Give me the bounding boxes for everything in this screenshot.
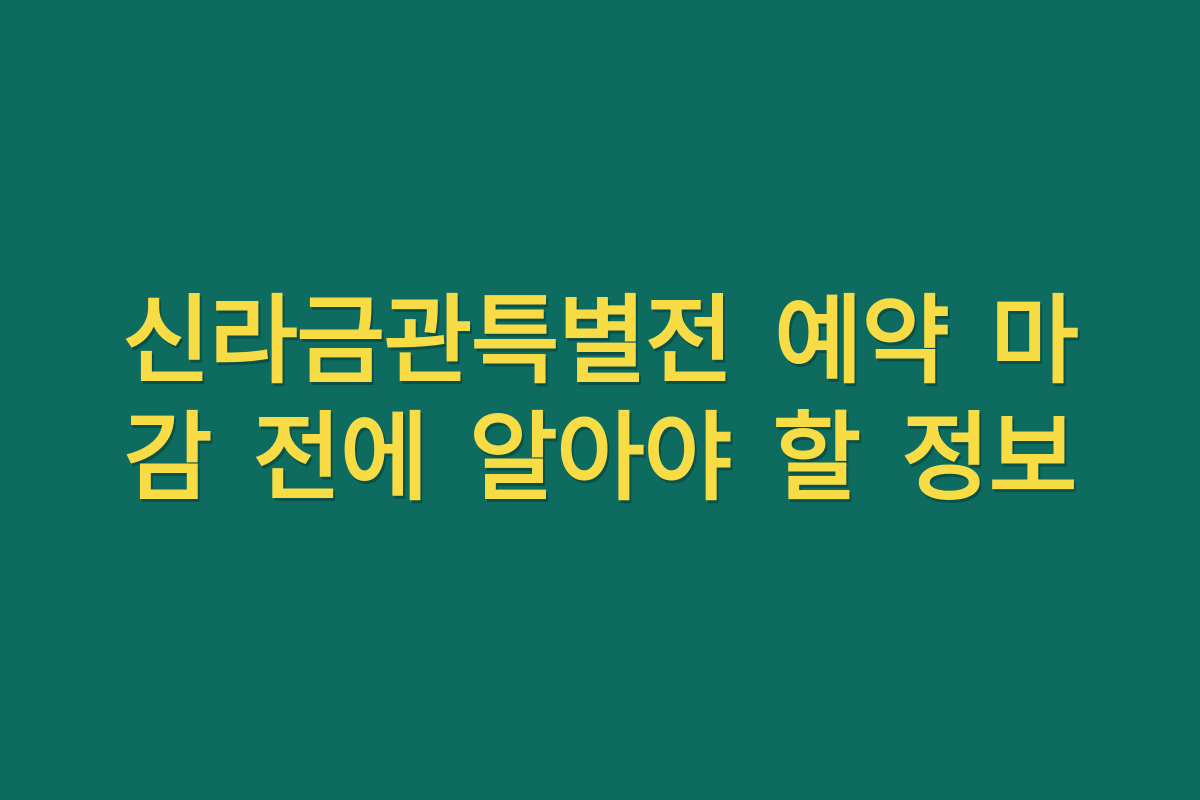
- page-title: 신라금관특별전 예약 마감 전에 알아야 할 정보: [90, 283, 1110, 517]
- title-card-banner: 신라금관특별전 예약 마감 전에 알아야 할 정보: [0, 0, 1200, 800]
- page-title-text: 신라금관특별전 예약 마감 전에 알아야 할 정보: [90, 283, 1110, 517]
